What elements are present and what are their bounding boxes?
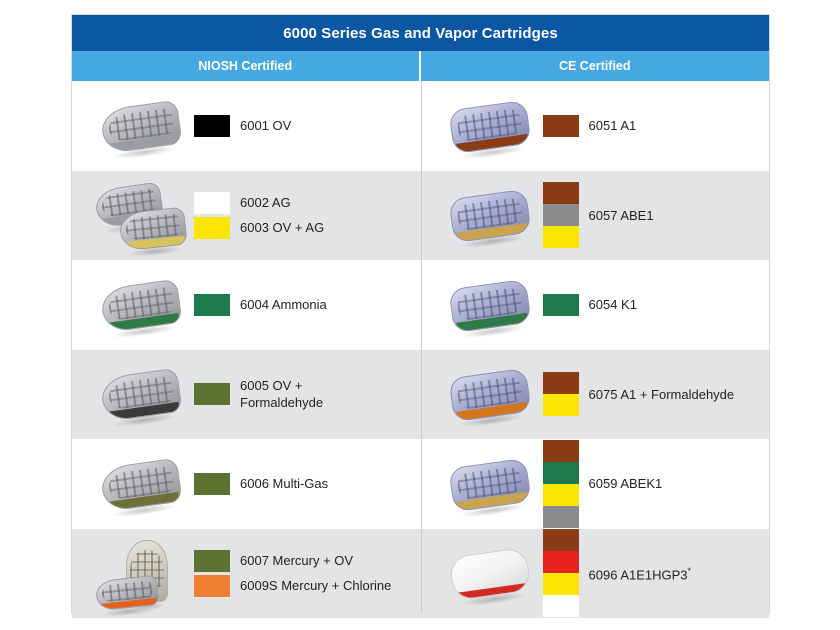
- table-cell-niosh: 6001 OV: [72, 81, 421, 171]
- color-swatch-stack: [194, 473, 230, 495]
- cartridge-entry: 6051 A1: [543, 115, 637, 137]
- cartridge-label: 6054 K1: [589, 296, 637, 313]
- cartridge-entry: 6002 AG: [194, 192, 324, 214]
- color-swatch-olive: [194, 473, 230, 495]
- cartridge-graphic: [448, 100, 531, 154]
- color-swatch-stack: [543, 440, 579, 528]
- cartridge-entry-list: 6051 A1: [543, 115, 637, 137]
- page-title: 6000 Series Gas and Vapor Cartridges: [283, 25, 558, 42]
- color-swatch-red: [543, 551, 579, 573]
- cartridge-entry-list: 6096 A1E1HGP3*: [543, 529, 692, 617]
- cartridge-entry-list: 6059 ABEK1: [543, 440, 663, 528]
- table-cell-ce: 6059 ABEK1: [421, 439, 770, 529]
- color-swatch-stack: [194, 294, 230, 316]
- cartridge-entry: 6096 A1E1HGP3*: [543, 529, 692, 617]
- cartridge-thumbnail: [96, 449, 188, 519]
- cartridge-entry: 6003 OV + AG: [194, 217, 324, 239]
- table-cell-ce: 6096 A1E1HGP3*: [421, 529, 770, 619]
- table-body: 6001 OV6051 A16002 AG6003 OV + AG6057 AB…: [72, 81, 769, 613]
- table-cell-ce: 6054 K1: [421, 260, 770, 350]
- cartridge-entry-list: 6075 A1 + Formaldehyde: [543, 372, 735, 416]
- cartridge-thumbnail: [445, 180, 537, 250]
- column-header-niosh: NIOSH Certified: [72, 51, 421, 81]
- cartridge-entry: 6054 K1: [543, 294, 637, 316]
- cartridge-graphic: [95, 575, 160, 611]
- cartridge-entry: 6005 OV + Formaldehyde: [194, 377, 323, 411]
- table-cell-ce: 6051 A1: [421, 81, 770, 171]
- color-swatch-white: [194, 192, 230, 214]
- page-root: 6000 Series Gas and Vapor Cartridges NIO…: [0, 0, 840, 630]
- cartridge-table: 6000 Series Gas and Vapor Cartridges NIO…: [71, 14, 770, 614]
- cartridge-thumbnail: [96, 91, 188, 161]
- color-swatch-stack: [194, 383, 230, 405]
- color-swatch-gray: [543, 506, 579, 528]
- cartridge-label: 6003 OV + AG: [240, 219, 324, 236]
- cartridge-label: 6051 A1: [589, 117, 637, 134]
- cartridge-label: 6005 OV + Formaldehyde: [240, 377, 323, 411]
- cartridge-entry-list: 6057 ABE1: [543, 182, 654, 248]
- cartridge-entry-list: 6005 OV + Formaldehyde: [194, 377, 323, 411]
- color-swatch-yellow: [543, 226, 579, 248]
- color-swatch-gray: [543, 204, 579, 226]
- cartridge-graphic: [118, 207, 188, 252]
- color-swatch-green: [194, 294, 230, 316]
- column-divider: [421, 81, 422, 613]
- color-swatch-yellow: [543, 573, 579, 595]
- cartridge-thumbnail: [445, 359, 537, 429]
- color-swatch-orange: [194, 575, 230, 597]
- table-title-bar: 6000 Series Gas and Vapor Cartridges: [72, 15, 769, 51]
- cartridge-thumbnail: [445, 270, 537, 340]
- color-swatch-olive: [194, 383, 230, 405]
- cartridge-entry-list: 6001 OV: [194, 115, 291, 137]
- color-swatch-white: [543, 595, 579, 617]
- color-swatch-brown: [543, 115, 579, 137]
- cartridge-label: 6057 ABE1: [589, 207, 654, 224]
- cartridge-label: 6075 A1 + Formaldehyde: [589, 386, 735, 403]
- column-header-row: NIOSH Certified CE Certified: [72, 51, 769, 81]
- color-swatch-green: [543, 462, 579, 484]
- cartridge-graphic: [448, 458, 531, 512]
- color-swatch-yellow: [543, 394, 579, 416]
- cartridge-entry-list: 6002 AG6003 OV + AG: [194, 192, 324, 239]
- cartridge-entry-list: 6006 Multi-Gas: [194, 473, 328, 495]
- cartridge-label: 6006 Multi-Gas: [240, 475, 328, 492]
- cartridge-graphic: [99, 100, 182, 154]
- color-swatch-brown: [543, 372, 579, 394]
- color-swatch-stack: [543, 182, 579, 248]
- cartridge-label: 6001 OV: [240, 117, 291, 134]
- column-header-ce-label: CE Certified: [559, 59, 631, 73]
- color-swatch-stack: [543, 115, 579, 137]
- cartridge-graphic: [99, 279, 182, 333]
- color-swatch-stack: [543, 372, 579, 416]
- cartridge-entry: 6059 ABEK1: [543, 440, 663, 528]
- color-swatch-brown: [543, 182, 579, 204]
- cartridge-entry: 6001 OV: [194, 115, 291, 137]
- cartridge-graphic: [448, 368, 531, 422]
- cartridge-label: 6002 AG: [240, 194, 291, 211]
- cartridge-entry-list: 6054 K1: [543, 294, 637, 316]
- cartridge-graphic: [448, 189, 531, 243]
- cartridge-entry: 6006 Multi-Gas: [194, 473, 328, 495]
- color-swatch-stack: [194, 550, 230, 572]
- color-swatch-olive: [194, 550, 230, 572]
- color-swatch-brown: [543, 440, 579, 462]
- table-cell-niosh: 6006 Multi-Gas: [72, 439, 421, 529]
- color-swatch-stack: [194, 115, 230, 137]
- color-swatch-stack: [194, 217, 230, 239]
- color-swatch-black: [194, 115, 230, 137]
- cartridge-label: 6004 Ammonia: [240, 296, 327, 313]
- cartridge-graphic: [448, 279, 531, 333]
- table-cell-niosh: 6004 Ammonia: [72, 260, 421, 350]
- color-swatch-stack: [543, 529, 579, 617]
- cartridge-label: 6096 A1E1HGP3*: [589, 563, 692, 583]
- cartridge-label: 6009S Mercury + Chlorine: [240, 577, 391, 594]
- cartridge-thumbnail: [96, 270, 188, 340]
- cartridge-entry: 6004 Ammonia: [194, 294, 327, 316]
- cartridge-entry: 6007 Mercury + OV: [194, 550, 391, 572]
- column-header-ce: CE Certified: [421, 51, 770, 81]
- table-cell-ce: 6075 A1 + Formaldehyde: [421, 350, 770, 440]
- cartridge-thumbnail: [96, 180, 188, 250]
- cartridge-graphic: [99, 368, 182, 422]
- cartridge-entry: 6057 ABE1: [543, 182, 654, 248]
- cartridge-thumbnail: [96, 538, 188, 608]
- cartridge-thumbnail: [445, 91, 537, 161]
- table-cell-niosh: 6005 OV + Formaldehyde: [72, 350, 421, 440]
- table-cell-niosh: 6002 AG6003 OV + AG: [72, 171, 421, 261]
- color-swatch-stack: [194, 575, 230, 597]
- cartridge-graphic: [99, 458, 182, 512]
- cartridge-graphic: [448, 547, 531, 601]
- cartridge-entry: 6009S Mercury + Chlorine: [194, 575, 391, 597]
- cartridge-thumbnail: [96, 359, 188, 429]
- color-swatch-brown: [543, 529, 579, 551]
- footnote-marker: *: [688, 566, 692, 576]
- table-cell-ce: 6057 ABE1: [421, 171, 770, 261]
- color-swatch-yellow: [194, 217, 230, 239]
- color-swatch-stack: [543, 294, 579, 316]
- cartridge-label: 6059 ABEK1: [589, 475, 663, 492]
- color-swatch-yellow: [543, 484, 579, 506]
- cartridge-entry-list: 6004 Ammonia: [194, 294, 327, 316]
- table-cell-niosh: 6007 Mercury + OV6009S Mercury + Chlorin…: [72, 529, 421, 619]
- cartridge-thumbnail: [445, 538, 537, 608]
- color-swatch-green: [543, 294, 579, 316]
- cartridge-thumbnail: [445, 449, 537, 519]
- color-swatch-stack: [194, 192, 230, 214]
- cartridge-entry: 6075 A1 + Formaldehyde: [543, 372, 735, 416]
- cartridge-entry-list: 6007 Mercury + OV6009S Mercury + Chlorin…: [194, 550, 391, 597]
- column-header-niosh-label: NIOSH Certified: [198, 59, 292, 73]
- cartridge-label: 6007 Mercury + OV: [240, 552, 353, 569]
